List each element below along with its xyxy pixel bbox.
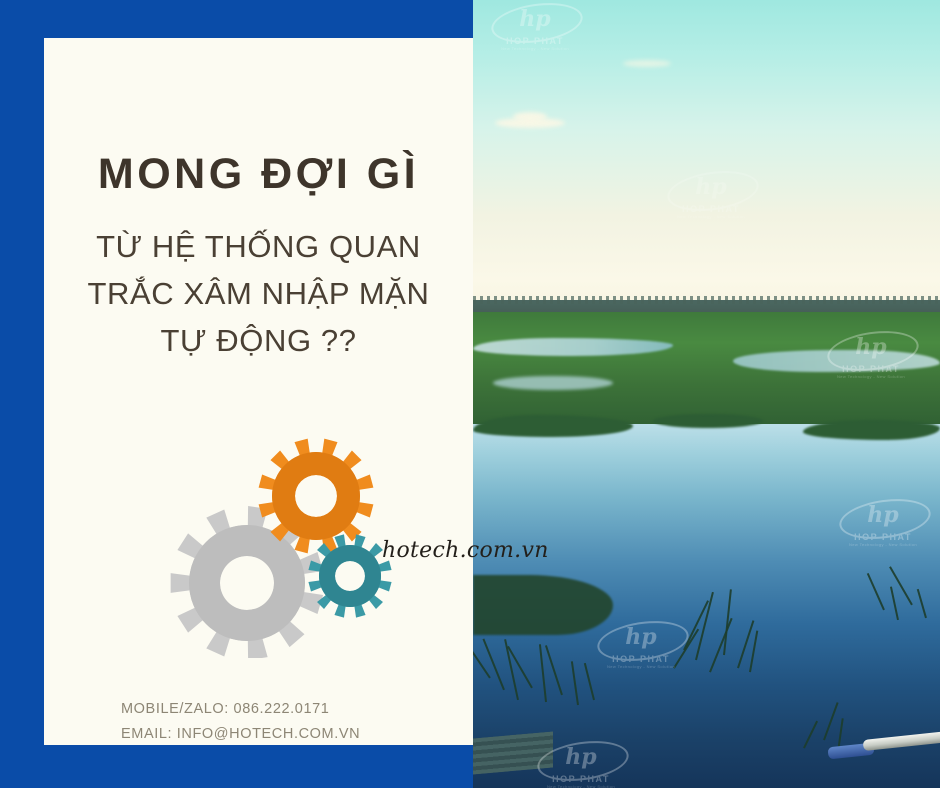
grass-bank xyxy=(473,415,633,437)
page-title: MONG ĐỢI GÌ xyxy=(44,150,473,199)
website-label: hotech.com.vn xyxy=(382,538,549,563)
wooden-plank xyxy=(473,732,553,775)
wet-patch xyxy=(493,376,613,390)
gear-teal-icon xyxy=(308,534,391,617)
grass-bank xyxy=(653,414,763,428)
station-photo: hp HOP PHAT New Technology - New Solutio… xyxy=(473,0,940,788)
page-subtitle: TỪ HỆ THỐNG QUAN TRẮC XÂM NHẬP MẶN TỰ ĐỘ… xyxy=(58,223,459,364)
subtitle-line: TỪ HỆ THỐNG QUAN xyxy=(58,223,459,270)
subtitle-line: TỰ ĐỘNG ?? xyxy=(58,317,459,364)
wet-patch xyxy=(733,350,940,372)
cloud xyxy=(623,60,671,67)
subtitle-line: TRẮC XÂM NHẬP MẶN xyxy=(58,270,459,317)
contact-email: EMAIL: INFO@HOTECH.COM.VN xyxy=(121,722,360,747)
content-card: MONG ĐỢI GÌ TỪ HỆ THỐNG QUAN TRẮC XÂM NH… xyxy=(44,38,473,745)
contact-mobile: MOBILE/ZALO: 086.222.0171 xyxy=(121,697,360,722)
grass-bank xyxy=(803,420,940,440)
poster-root: hp HOP PHAT New Technology - New Solutio… xyxy=(0,0,940,788)
sky xyxy=(473,0,940,318)
cloud xyxy=(513,112,547,121)
contact-block: MOBILE/ZALO: 086.222.0171 EMAIL: INFO@HO… xyxy=(121,697,360,747)
